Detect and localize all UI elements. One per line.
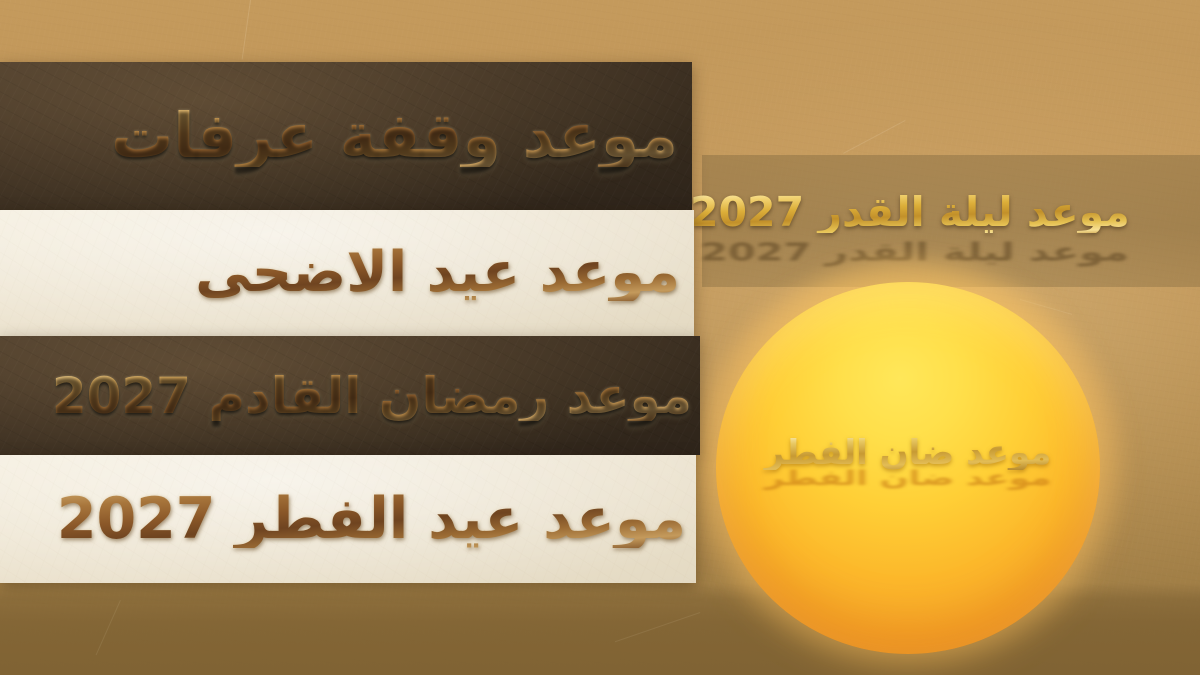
stripe-arafat[interactable]: موعد وقفة عرفات xyxy=(0,62,692,210)
qadr-headline: موعد ليلة القدر 2027 xyxy=(690,192,1200,233)
sun-label: موعد ضان الفطر xyxy=(716,436,1100,470)
banner-canvas: موعد ليلة القدر 2027 موعد ليلة القدر 202… xyxy=(0,0,1200,675)
stripe-arafat-label: موعد وقفة عرفات xyxy=(111,105,692,167)
stripe-eid-adha[interactable]: موعد عيد الاضحى xyxy=(0,210,694,336)
stripe-eid-fitr-label: موعد عيد الفطر 2027 xyxy=(57,491,696,548)
stripe-ramadan[interactable]: موعد رمضان القادم 2027 xyxy=(0,336,700,455)
stripe-ramadan-label: موعد رمضان القادم 2027 xyxy=(52,371,700,421)
qadr-headline-shadow: موعد ليلة القدر 2027 xyxy=(700,240,1200,265)
stripe-eid-adha-label: موعد عيد الاضحى xyxy=(195,245,694,301)
stripe-eid-fitr[interactable]: موعد عيد الفطر 2027 xyxy=(0,455,696,583)
